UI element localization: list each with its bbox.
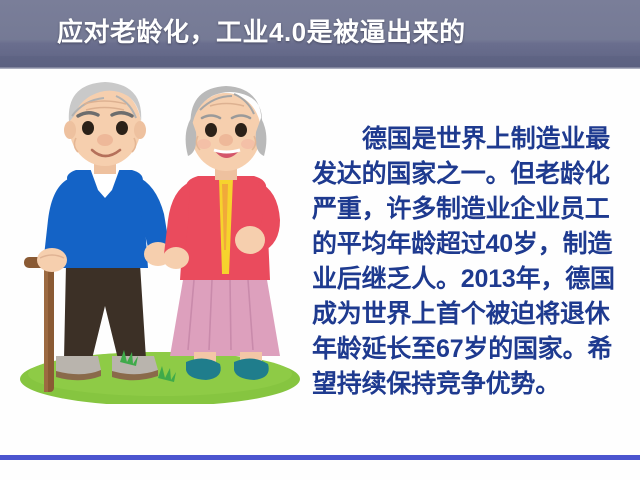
woman-left-hand [163,247,189,269]
woman-right-hand [235,226,265,254]
slide-header-bar: 应对老龄化，工业4.0是被逼出来的 [0,0,640,68]
header-bottom-edge [0,67,640,69]
slide-root: 应对老龄化，工业4.0是被逼出来的 [0,0,640,480]
man-eye-right [116,121,128,135]
watermark-text [514,448,634,462]
man-trousers [64,264,146,359]
body-paragraph: 德国是世界上制造业最发达的国家之一。但老龄化严重，许多制造业企业员工的平均年龄超… [312,122,630,402]
man-eye-left [82,121,94,135]
woman-eye-right [235,123,247,137]
man-hand-on-cane [37,248,67,272]
woman-skirt [170,274,280,356]
woman-eye-left [205,123,217,137]
elderly-couple-illustration [8,74,308,404]
page-title: 应对老龄化，工业4.0是被逼出来的 [57,12,466,49]
woman-head [191,93,261,171]
